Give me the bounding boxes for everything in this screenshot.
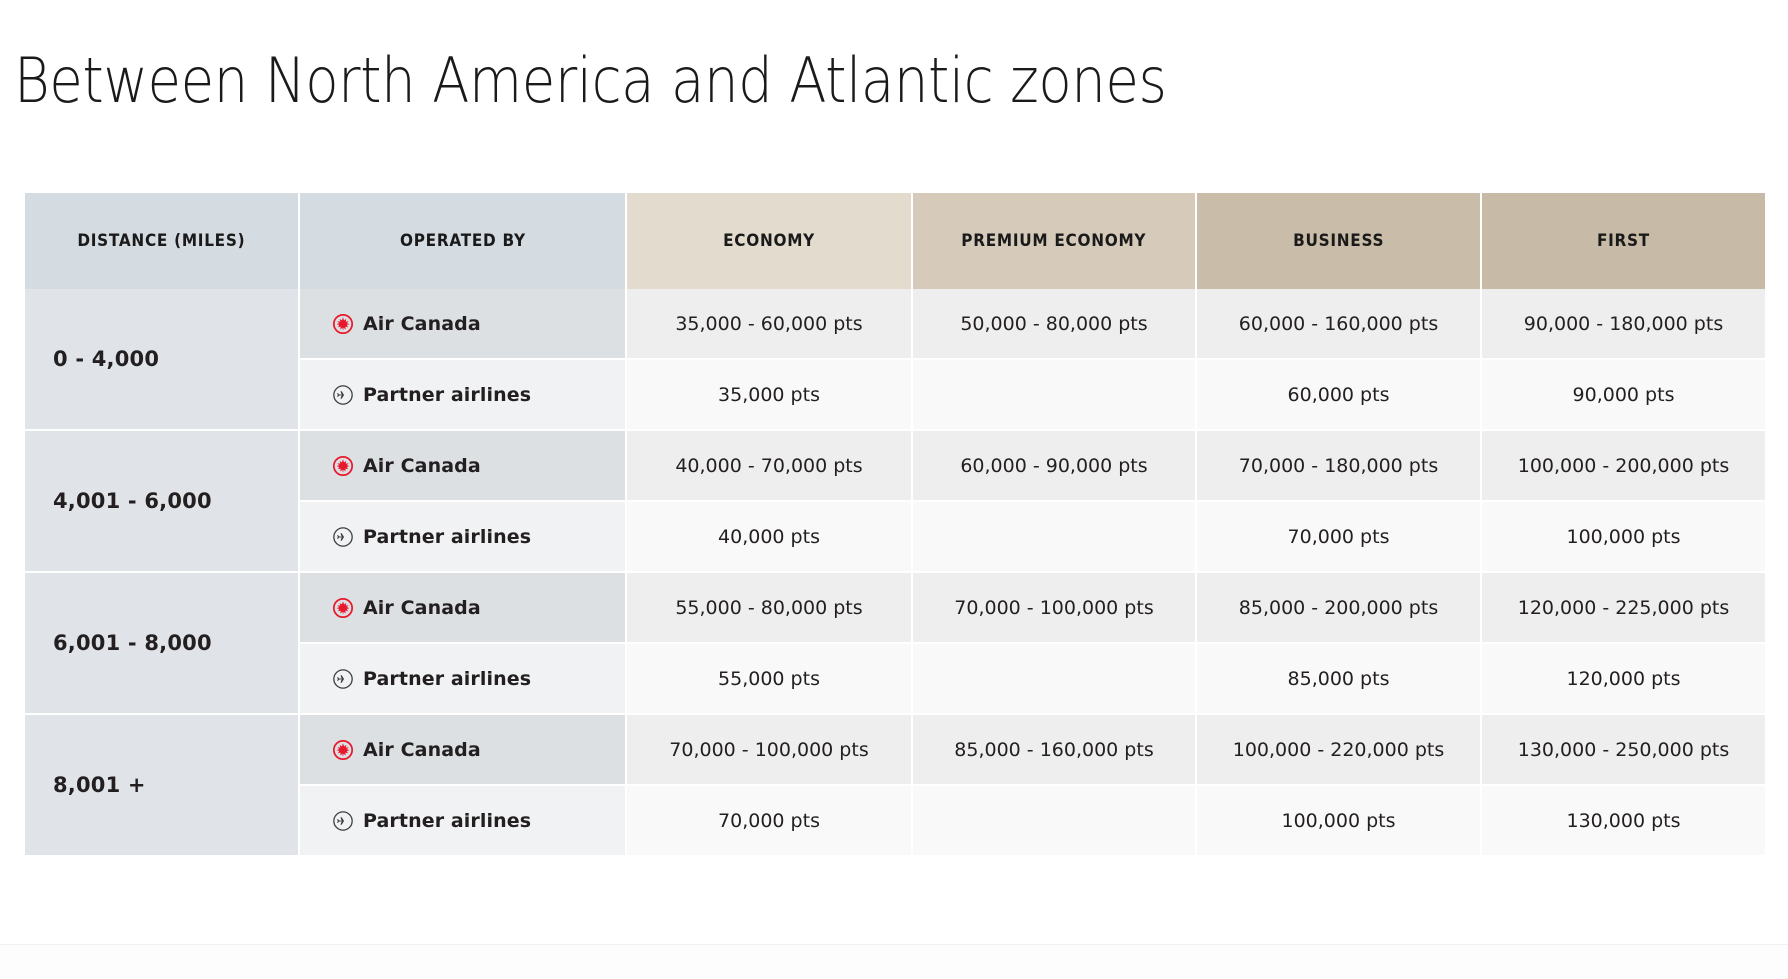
- column-header-operated-by: OPERATED BY: [300, 193, 627, 289]
- operator-row: Partner airlines: [332, 384, 625, 406]
- airplane-circle-icon: [332, 810, 354, 832]
- award-value-business: 60,000 - 160,000 pts: [1197, 289, 1482, 360]
- airplane-circle-icon: [332, 668, 354, 690]
- operator-row: Air Canada: [332, 313, 625, 335]
- column-header-business: BUSINESS: [1197, 193, 1482, 289]
- award-value-economy: 40,000 pts: [627, 502, 913, 573]
- column-header-first-label: FIRST: [1597, 231, 1650, 251]
- table-header: DISTANCE (MILES) OPERATED BY ECONOMY PRE…: [25, 193, 1765, 289]
- column-header-premium-economy-label: PREMIUM ECONOMY: [962, 231, 1147, 251]
- operator-cell-air-canada: Air Canada: [300, 431, 627, 502]
- award-value-premium-economy: [913, 786, 1197, 857]
- award-value-business: 85,000 pts: [1197, 644, 1482, 715]
- operator-label: Partner airlines: [363, 526, 531, 548]
- operator-label: Partner airlines: [363, 384, 531, 406]
- award-value-first: 120,000 - 225,000 pts: [1482, 573, 1765, 644]
- table-row: 6,001 - 8,000Air Canada55,000 - 80,000 p…: [25, 573, 1765, 644]
- award-value-premium-economy: 60,000 - 90,000 pts: [913, 431, 1197, 502]
- operator-cell-air-canada: Air Canada: [300, 289, 627, 360]
- award-value-first: 90,000 - 180,000 pts: [1482, 289, 1765, 360]
- column-header-economy: ECONOMY: [627, 193, 913, 289]
- operator-cell-air-canada: Air Canada: [300, 573, 627, 644]
- distance-range-cell: 8,001 +: [25, 715, 300, 857]
- award-value-economy: 55,000 - 80,000 pts: [627, 573, 913, 644]
- award-value-economy: 35,000 pts: [627, 360, 913, 431]
- operator-label: Partner airlines: [363, 668, 531, 690]
- table-header-row: DISTANCE (MILES) OPERATED BY ECONOMY PRE…: [25, 193, 1765, 289]
- air-canada-roundel-icon: [332, 739, 354, 761]
- award-value-premium-economy: 70,000 - 100,000 pts: [913, 573, 1197, 644]
- column-header-premium-economy: PREMIUM ECONOMY: [913, 193, 1197, 289]
- award-value-business: 60,000 pts: [1197, 360, 1482, 431]
- operator-cell-partner-airlines: Partner airlines: [300, 502, 627, 573]
- award-chart-table-container: DISTANCE (MILES) OPERATED BY ECONOMY PRE…: [25, 193, 1765, 857]
- award-chart-table: DISTANCE (MILES) OPERATED BY ECONOMY PRE…: [25, 193, 1765, 857]
- operator-label: Partner airlines: [363, 810, 531, 832]
- operator-label: Air Canada: [363, 455, 481, 477]
- airplane-circle-icon: [332, 526, 354, 548]
- award-value-business: 70,000 - 180,000 pts: [1197, 431, 1482, 502]
- award-value-first: 100,000 pts: [1482, 502, 1765, 573]
- air-canada-roundel-icon: [332, 313, 354, 335]
- award-value-premium-economy: [913, 360, 1197, 431]
- award-value-first: 120,000 pts: [1482, 644, 1765, 715]
- award-value-business: 100,000 pts: [1197, 786, 1482, 857]
- operator-label: Air Canada: [363, 739, 481, 761]
- operator-label: Air Canada: [363, 313, 481, 335]
- operator-cell-partner-airlines: Partner airlines: [300, 786, 627, 857]
- award-value-premium-economy: 50,000 - 80,000 pts: [913, 289, 1197, 360]
- column-header-operated-by-label: OPERATED BY: [400, 231, 526, 251]
- table-row: 8,001 +Air Canada70,000 - 100,000 pts85,…: [25, 715, 1765, 786]
- table-body: 0 - 4,000Air Canada35,000 - 60,000 pts50…: [25, 289, 1765, 857]
- award-value-first: 130,000 - 250,000 pts: [1482, 715, 1765, 786]
- award-value-economy: 35,000 - 60,000 pts: [627, 289, 913, 360]
- distance-range-cell: 0 - 4,000: [25, 289, 300, 431]
- air-canada-roundel-icon: [332, 597, 354, 619]
- award-value-business: 70,000 pts: [1197, 502, 1482, 573]
- operator-row: Air Canada: [332, 597, 625, 619]
- column-header-distance: DISTANCE (MILES): [25, 193, 300, 289]
- operator-row: Air Canada: [332, 739, 625, 761]
- column-header-economy-label: ECONOMY: [723, 231, 815, 251]
- airplane-circle-icon: [332, 384, 354, 406]
- award-value-economy: 40,000 - 70,000 pts: [627, 431, 913, 502]
- award-value-business: 85,000 - 200,000 pts: [1197, 573, 1482, 644]
- operator-row: Partner airlines: [332, 526, 625, 548]
- table-row: 4,001 - 6,000Air Canada40,000 - 70,000 p…: [25, 431, 1765, 502]
- award-value-premium-economy: [913, 502, 1197, 573]
- column-header-first: FIRST: [1482, 193, 1765, 289]
- award-value-premium-economy: [913, 644, 1197, 715]
- award-value-first: 130,000 pts: [1482, 786, 1765, 857]
- operator-cell-partner-airlines: Partner airlines: [300, 644, 627, 715]
- column-header-distance-label: DISTANCE (MILES): [78, 231, 246, 251]
- distance-range-cell: 4,001 - 6,000: [25, 431, 300, 573]
- operator-label: Air Canada: [363, 597, 481, 619]
- award-value-first: 100,000 - 200,000 pts: [1482, 431, 1765, 502]
- page-footer-band: [0, 944, 1788, 979]
- operator-row: Partner airlines: [332, 810, 625, 832]
- award-value-economy: 70,000 - 100,000 pts: [627, 715, 913, 786]
- award-value-premium-economy: 85,000 - 160,000 pts: [913, 715, 1197, 786]
- operator-cell-partner-airlines: Partner airlines: [300, 360, 627, 431]
- operator-cell-air-canada: Air Canada: [300, 715, 627, 786]
- award-value-economy: 70,000 pts: [627, 786, 913, 857]
- table-row: 0 - 4,000Air Canada35,000 - 60,000 pts50…: [25, 289, 1765, 360]
- operator-row: Partner airlines: [332, 668, 625, 690]
- column-header-business-label: BUSINESS: [1293, 231, 1384, 251]
- operator-row: Air Canada: [332, 455, 625, 477]
- distance-range-cell: 6,001 - 8,000: [25, 573, 300, 715]
- air-canada-roundel-icon: [332, 455, 354, 477]
- award-value-first: 90,000 pts: [1482, 360, 1765, 431]
- award-value-economy: 55,000 pts: [627, 644, 913, 715]
- award-value-business: 100,000 - 220,000 pts: [1197, 715, 1482, 786]
- page-title: Between North America and Atlantic zones: [14, 50, 1167, 112]
